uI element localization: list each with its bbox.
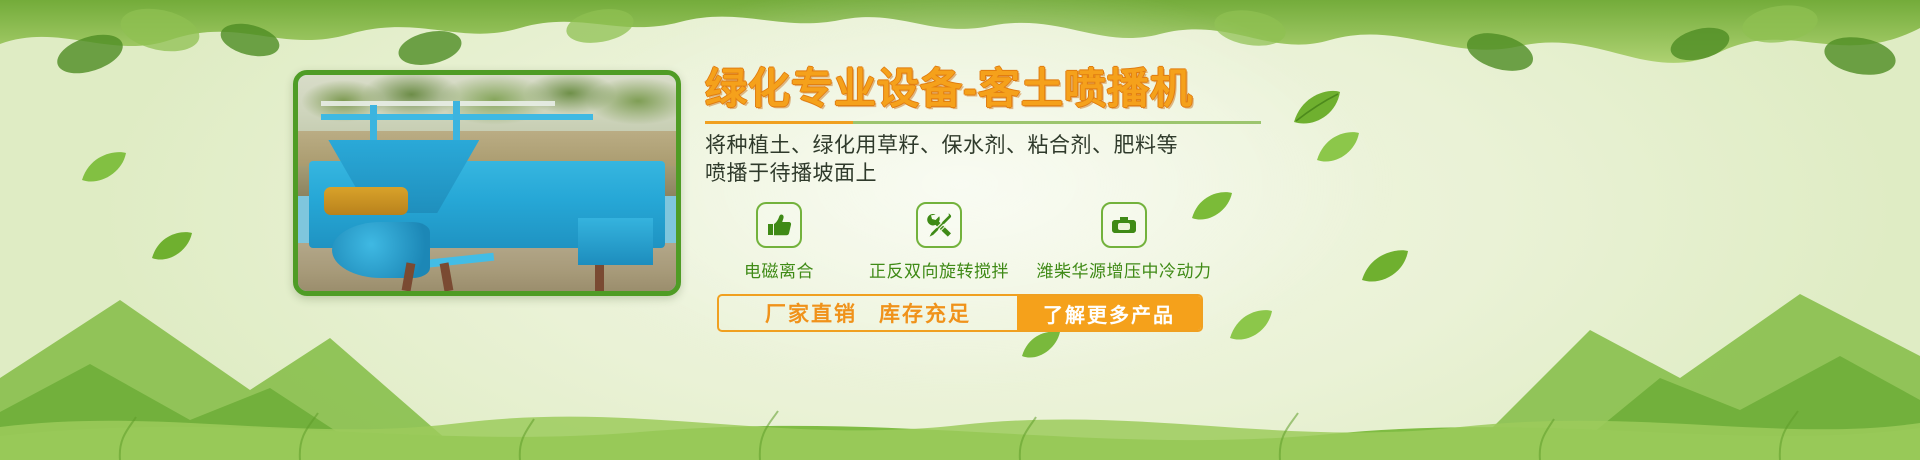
product-photo-image xyxy=(298,75,676,291)
feature-label: 电磁离合 xyxy=(744,257,814,282)
feature-item-weichai-power[interactable]: 潍柴华源增压中冷动力 xyxy=(1025,202,1223,282)
banner-content: 绿化专业设备-客土喷播机 将种植土、绿化用草籽、保水剂、粘合剂、肥料等 喷播于待… xyxy=(705,66,1305,332)
cta-tags: 厂家直销 库存充足 xyxy=(719,298,1017,328)
product-photo[interactable] xyxy=(293,70,681,296)
feature-label: 潍柴华源增压中冷动力 xyxy=(1037,257,1212,282)
subtitle: 将种植土、绿化用草籽、保水剂、粘合剂、肥料等 喷播于待播坡面上 xyxy=(705,132,1305,188)
grass-decoration xyxy=(0,365,1920,460)
floating-leaf-icon xyxy=(1315,130,1361,164)
page-title: 绿化专业设备-客土喷播机 xyxy=(705,66,1305,111)
subtitle-line-2: 喷播于待播坡面上 xyxy=(705,160,1305,188)
feature-list: 电磁离合 正反双向旋转搅拌 xyxy=(705,202,1305,282)
cta-tag-factory-direct: 厂家直销 xyxy=(765,298,857,328)
learn-more-button[interactable]: 了解更多产品 xyxy=(1017,296,1201,330)
feature-label: 正反双向旋转搅拌 xyxy=(869,257,1009,282)
subtitle-line-1: 将种植土、绿化用草籽、保水剂、粘合剂、肥料等 xyxy=(705,132,1305,160)
wrench-screwdriver-icon xyxy=(916,202,962,248)
floating-leaf-icon xyxy=(1020,330,1062,360)
promo-banner: 绿化专业设备-客土喷播机 将种植土、绿化用草籽、保水剂、粘合剂、肥料等 喷播于待… xyxy=(0,0,1920,460)
thumbs-up-icon xyxy=(756,202,802,248)
feature-item-bidirectional-mixing[interactable]: 正反双向旋转搅拌 xyxy=(853,202,1025,282)
cta-tag-stock: 库存充足 xyxy=(879,298,971,328)
cta-bar: 厂家直销 库存充足 了解更多产品 xyxy=(717,294,1203,332)
floating-leaf-icon xyxy=(1360,248,1410,284)
title-divider xyxy=(705,121,1261,124)
floating-leaf-icon xyxy=(80,150,128,184)
engine-icon xyxy=(1101,202,1147,248)
floating-leaf-icon xyxy=(150,230,194,262)
feature-item-electromagnetic-clutch[interactable]: 电磁离合 xyxy=(705,202,853,282)
